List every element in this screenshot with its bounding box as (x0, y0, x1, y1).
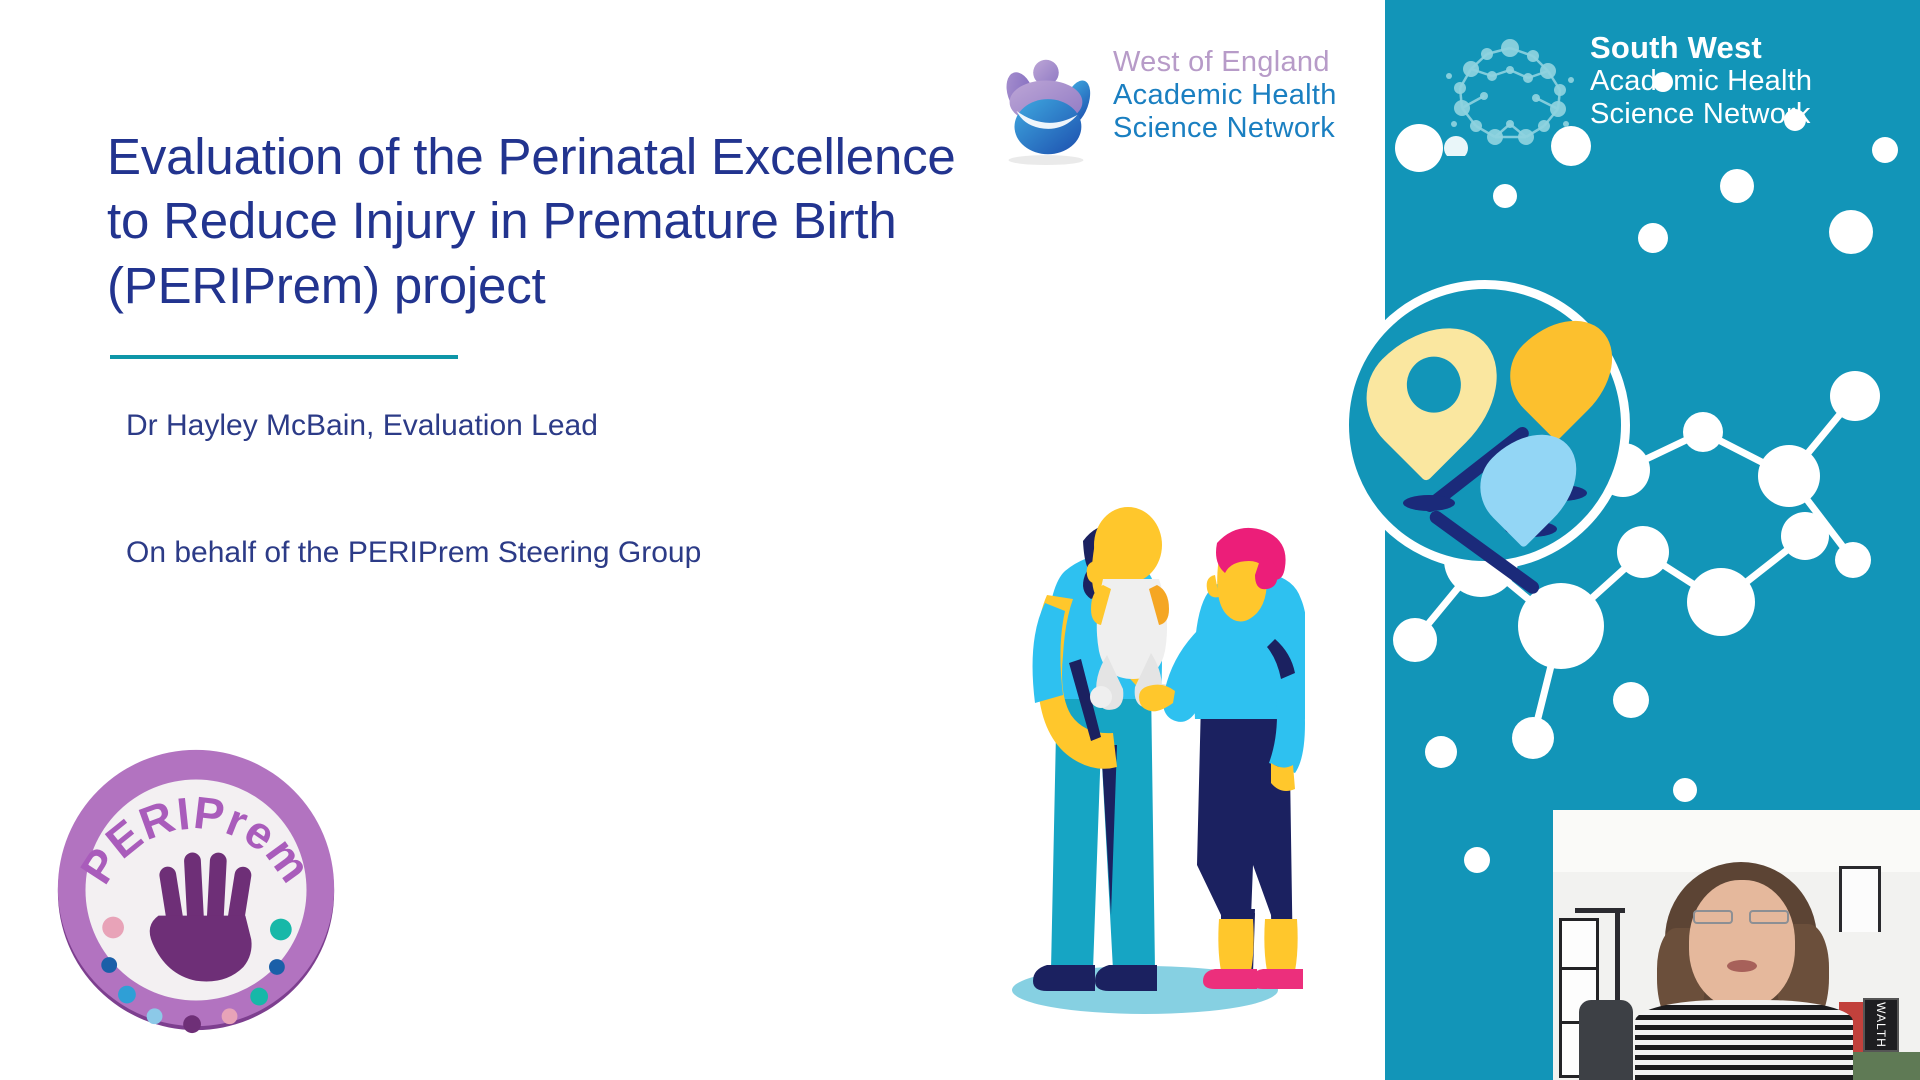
webcam-office-chair (1579, 1000, 1633, 1080)
webcam-person-mouth (1727, 960, 1757, 972)
periprem-hand-icon (150, 852, 253, 981)
south-west-molecule-mark-icon (1440, 36, 1580, 156)
webcam-video-overlay[interactable]: WALTH (1553, 810, 1920, 1080)
webcam-lamp-pole (1615, 910, 1620, 1006)
webcam-wall-sign: WALTH (1863, 998, 1899, 1052)
presentation-slide: Evaluation of the Perinatal Excellence t… (0, 0, 1920, 1080)
south-west-ahsn-logo: South West Academic Health Science Netwo… (1440, 30, 1870, 155)
woe-line-2: Academic Health (1113, 79, 1337, 112)
webcam-person-striped-top (1635, 1000, 1853, 1080)
map-pin-lightblue-icon (1487, 429, 1573, 533)
webcam-plant (1853, 1052, 1920, 1080)
woe-line-1: West of England (1113, 46, 1337, 79)
pin-base (1403, 495, 1455, 511)
sw-line-1: South West (1590, 30, 1812, 65)
periprem-badge-logo: PERIPrem (48, 742, 344, 1038)
webcam-window-right (1839, 866, 1881, 932)
map-pin-pale-icon (1375, 321, 1493, 461)
webcam-person-face (1689, 880, 1795, 1008)
south-west-wordmark: South West Academic Health Science Netwo… (1590, 30, 1812, 131)
glasses-icon (1693, 910, 1791, 924)
west-of-england-wordmark: West of England Academic Health Science … (1113, 46, 1337, 144)
title-underline-rule (110, 355, 458, 359)
west-of-england-ahsn-logo: West of England Academic Health Science … (985, 42, 1360, 172)
map-pins-medallion (1340, 280, 1630, 570)
map-pin-gold-icon (1517, 315, 1609, 425)
woe-line-3: Science Network (1113, 112, 1337, 145)
slide-title: Evaluation of the Perinatal Excellence t… (107, 125, 967, 318)
sw-line-3: Science Network (1590, 98, 1812, 131)
presenter-byline: Dr Hayley McBain, Evaluation Lead (126, 409, 926, 443)
steering-group-byline: On behalf of the PERIPrem Steering Group (126, 536, 926, 570)
webcam-sign-text: WALTH (1874, 1002, 1888, 1048)
family-illustration (985, 445, 1305, 1015)
west-of-england-mark-icon (985, 48, 1103, 166)
sw-line-2: Academic Health (1590, 65, 1812, 98)
